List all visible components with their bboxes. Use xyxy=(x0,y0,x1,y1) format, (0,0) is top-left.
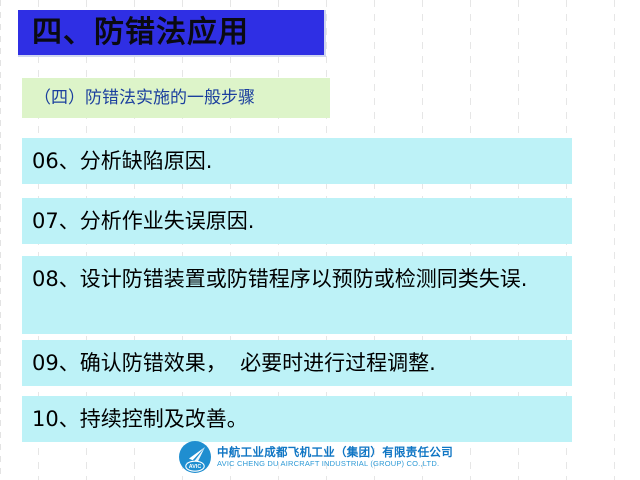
footer-company-cn: 中航工业成都飞机工业（集团）有限责任公司 xyxy=(217,445,453,459)
step-row: 06、分析缺陷原因. xyxy=(22,138,572,184)
slide-subtitle: （四）防错法实施的一般步骤 xyxy=(22,90,255,107)
footer-branding: AVIC 中航工业成都飞机工业（集团）有限责任公司 AVIC CHENG DU … xyxy=(178,440,453,474)
step-row: 08、设计防错装置或防错程序以预防或检测同类失误. xyxy=(22,256,572,334)
slide-subtitle-banner: （四）防错法实施的一般步骤 xyxy=(22,78,330,118)
step-row: 09、确认防错效果， 必要时进行过程调整. xyxy=(22,340,572,386)
avic-logo-icon: AVIC xyxy=(178,440,212,474)
step-row: 10、持续控制及改善。 xyxy=(22,396,572,442)
footer-company-names: 中航工业成都飞机工业（集团）有限责任公司 AVIC CHENG DU AIRCR… xyxy=(217,445,453,469)
slide-title-banner: 四、防错法应用 xyxy=(18,10,326,57)
svg-text:AVIC: AVIC xyxy=(189,464,202,470)
step-row: 07、分析作业失误原因. xyxy=(22,198,572,244)
page-title: 四、防错法应用 xyxy=(18,18,249,48)
footer-company-en: AVIC CHENG DU AIRCRAFT INDUSTRIAL (GROUP… xyxy=(217,459,453,469)
slide-canvas: 四、防错法应用 （四）防错法实施的一般步骤 06、分析缺陷原因. 07、分析作业… xyxy=(0,0,640,480)
